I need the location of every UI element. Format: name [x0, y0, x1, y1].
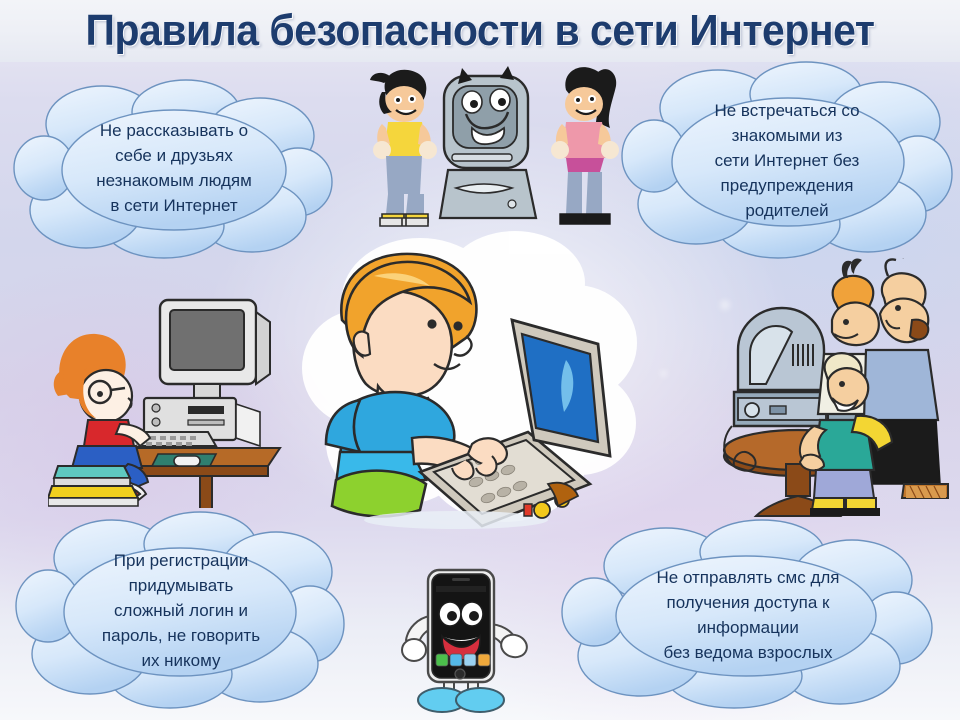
illustration-boy-with-laptop [316, 248, 616, 530]
illustration-kids-with-smiling-computer [352, 58, 620, 240]
illustration-boy-at-desktop-on-books [48, 278, 284, 508]
page-title: Правила безопасности в сети Интернет [34, 2, 927, 60]
speech-cloud-rule-no-meeting: Не встречаться со знакомыми из сети Инте… [622, 62, 952, 258]
speech-cloud-rule-no-sms: Не отправлять смс для получения доступа … [562, 522, 934, 708]
illustration-smartphone-character [392, 562, 532, 714]
speech-cloud-rule-strong-password: При регистрации придумывать сложный логи… [18, 512, 344, 708]
speech-cloud-rule-personal-info: Не рассказывать о себе и друзьях незнако… [14, 78, 334, 258]
poster-canvas: Правила безопасности в сети Интернет [0, 0, 960, 720]
background-fleck [660, 370, 667, 377]
illustration-family-at-computer [716, 258, 954, 520]
